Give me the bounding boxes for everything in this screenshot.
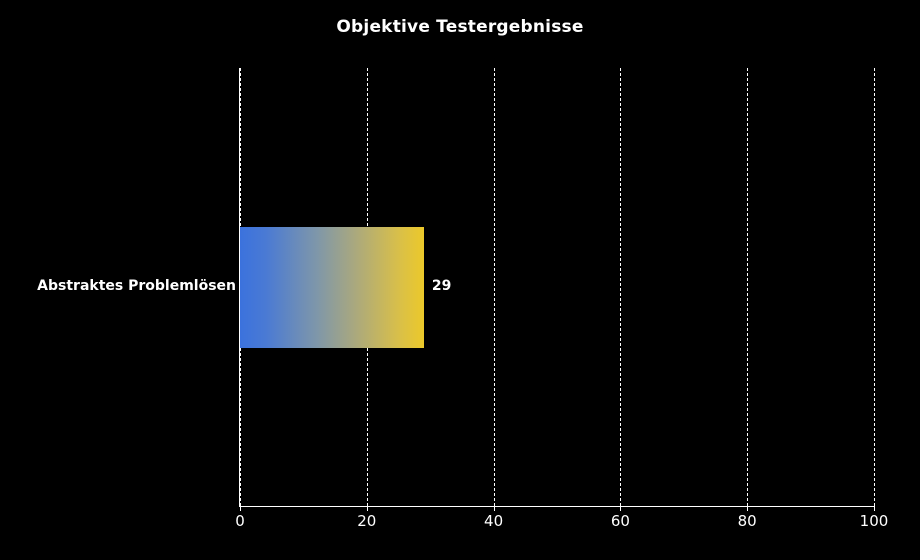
chart-title: Objektive Testergebnisse [0, 17, 920, 37]
bar-abstraktes-problemloesen [240, 227, 424, 348]
gridline-40 [494, 68, 495, 506]
x-tick-label-100: 100 [860, 512, 889, 530]
x-tick-mark-40 [494, 507, 495, 511]
chart-figure: Objektive Testergebnisse 29 Abstraktes P… [0, 0, 920, 560]
x-tick-label-0: 0 [235, 512, 245, 530]
gridline-100 [874, 68, 875, 506]
x-tick-mark-60 [620, 507, 621, 511]
x-tick-mark-20 [367, 507, 368, 511]
x-tick-label-20: 20 [357, 512, 376, 530]
x-tick-mark-80 [747, 507, 748, 511]
plot-area: 29 [240, 68, 874, 506]
x-tick-mark-0 [240, 507, 241, 511]
bar-value-label: 29 [432, 278, 451, 294]
gridline-60 [620, 68, 621, 506]
x-axis-spine [239, 506, 875, 507]
x-tick-label-60: 60 [611, 512, 630, 530]
x-tick-label-80: 80 [738, 512, 757, 530]
x-tick-label-40: 40 [484, 512, 503, 530]
gridline-80 [747, 68, 748, 506]
y-tick-label-abstraktes-problemloesen: Abstraktes Problemlösen [37, 278, 236, 294]
x-tick-mark-100 [874, 507, 875, 511]
